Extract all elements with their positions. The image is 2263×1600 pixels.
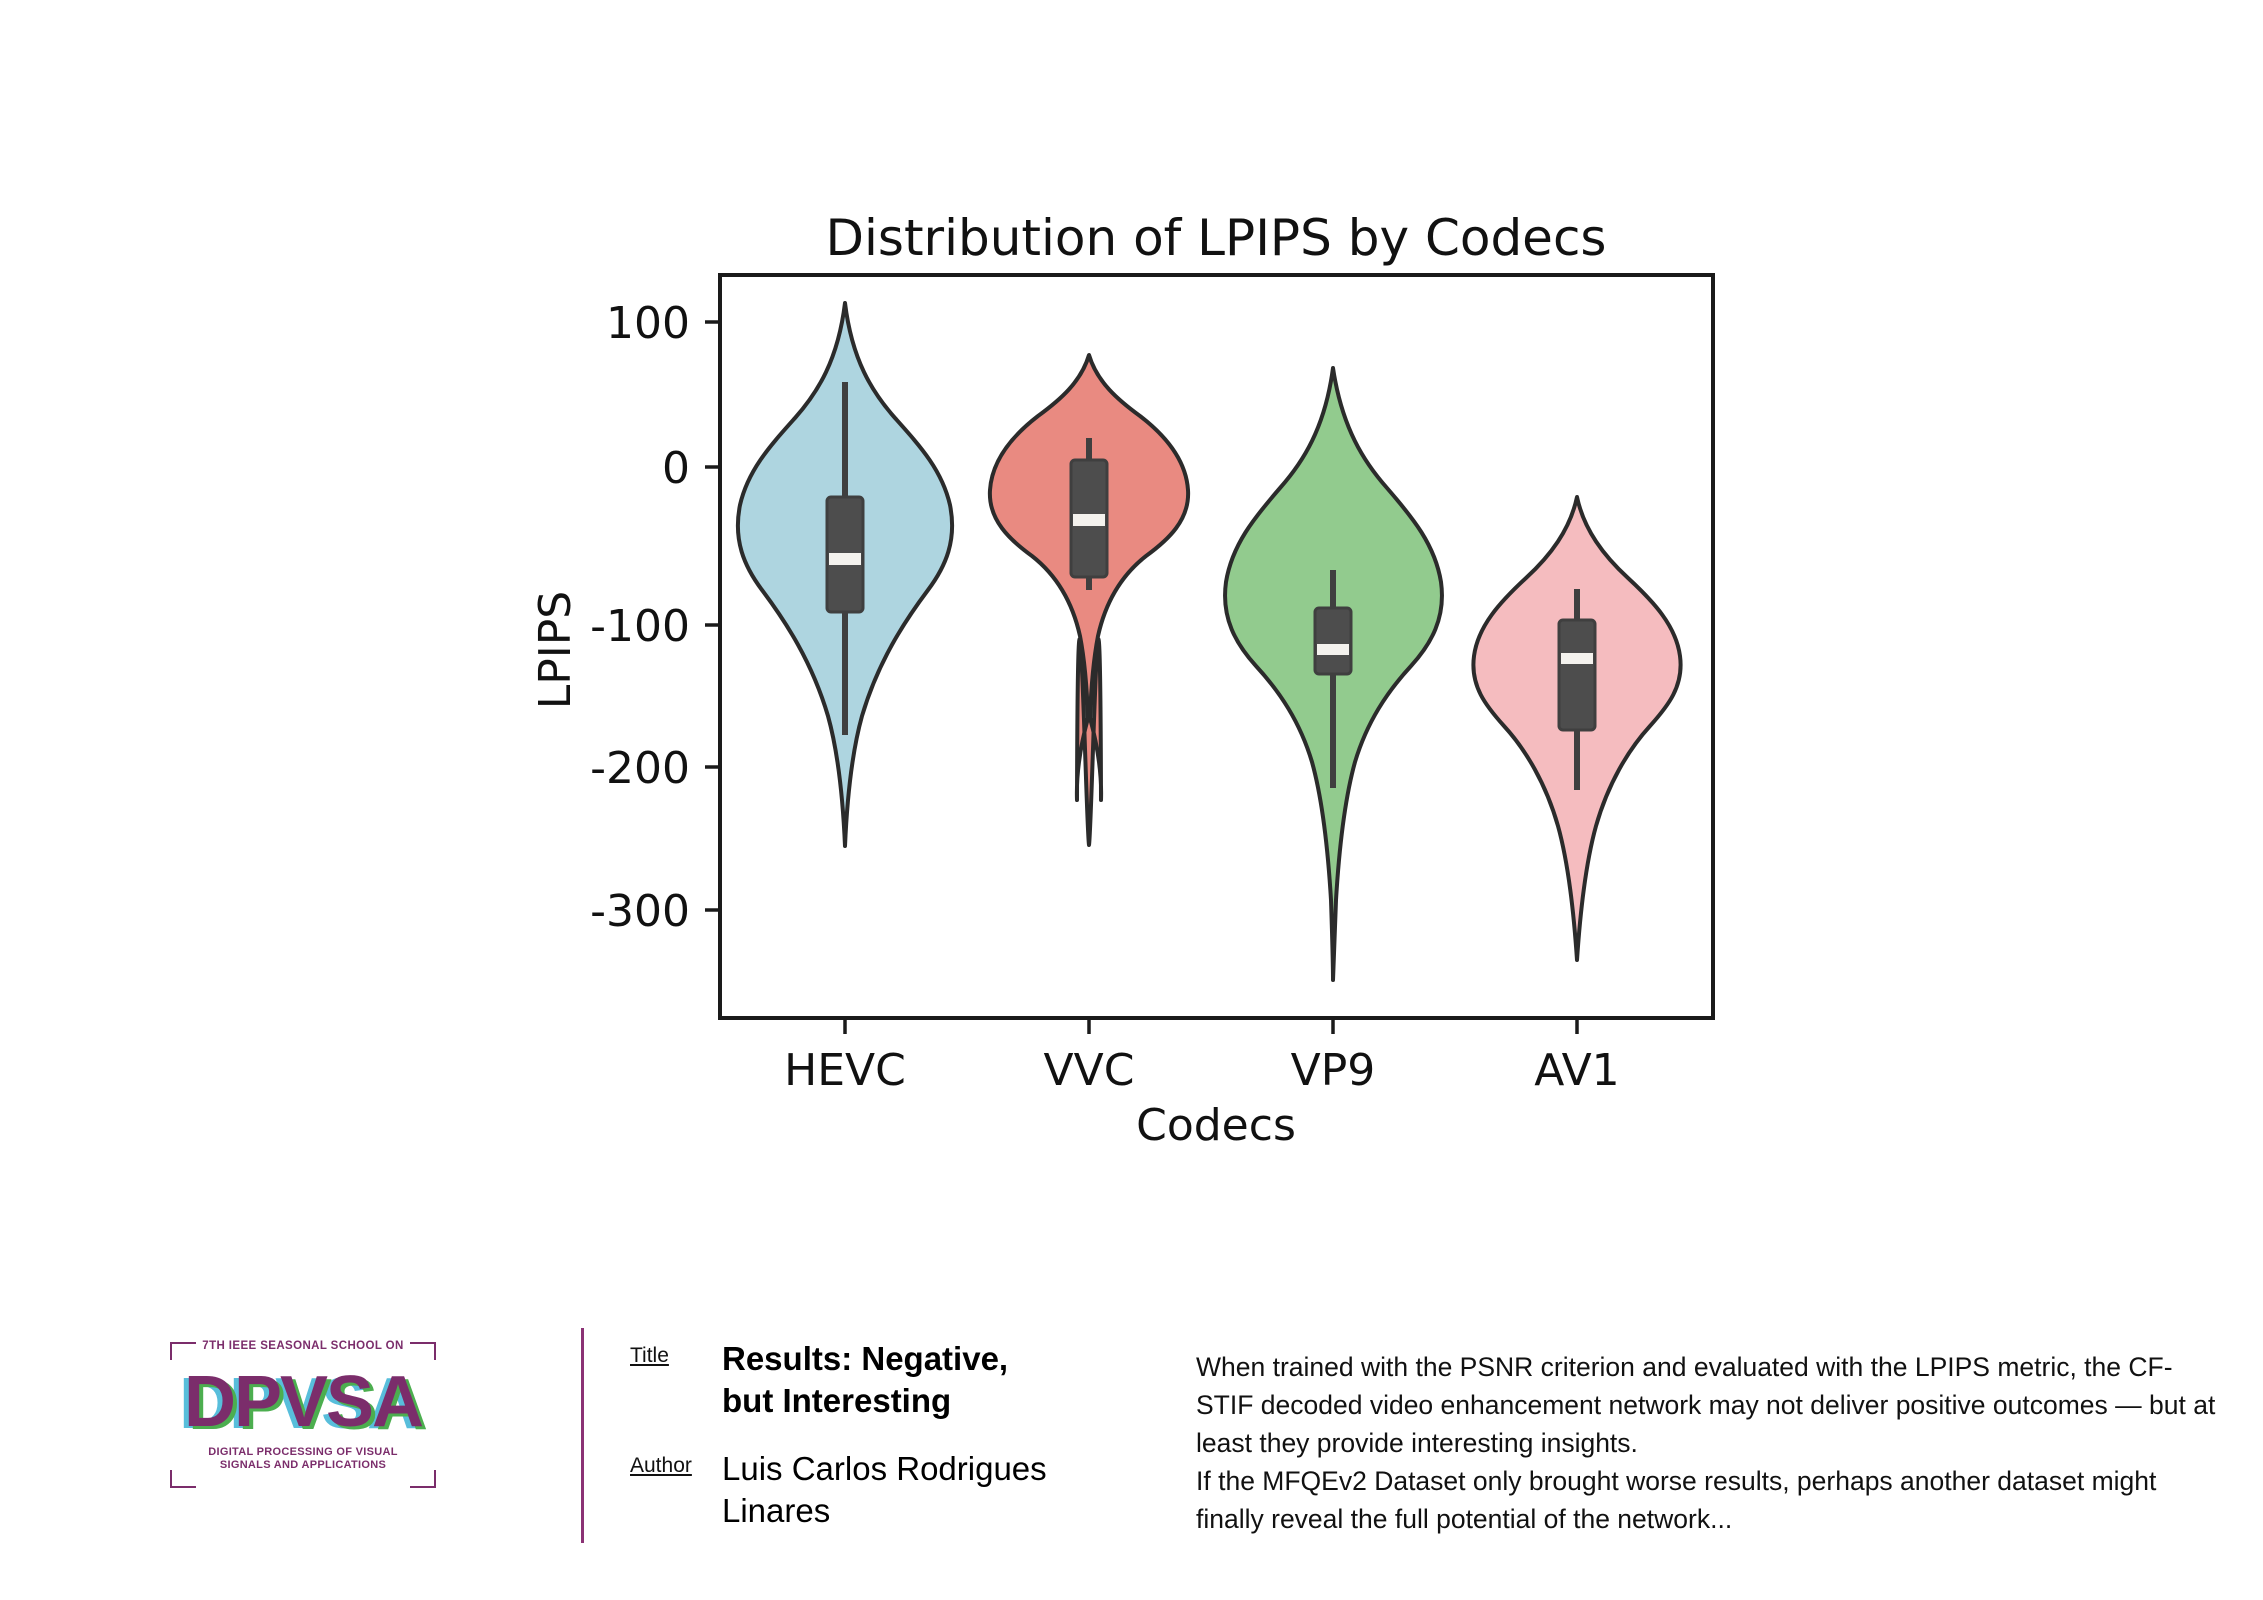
- median-vp9: [1317, 644, 1349, 655]
- body-paragraph-2: If the MFQEv2 Dataset only brought worse…: [1196, 1462, 2216, 1538]
- y-axis: 100 0 -100 -200 -300 LPIPS: [530, 298, 720, 937]
- dpvsa-logo: 7TH IEEE SEASONAL SCHOOL ON DPVSA DPVSA …: [168, 1340, 438, 1490]
- meta-author-key: Author: [630, 1448, 722, 1478]
- x-axis: HEVC VVC VP9 AV1 Codecs: [784, 1018, 1620, 1151]
- logo-top-label: 7TH IEEE SEASONAL SCHOOL ON: [168, 1340, 438, 1352]
- meta-title-key: Title: [630, 1338, 722, 1368]
- box-vp9: [1315, 608, 1351, 674]
- x-axis-label: Codecs: [1136, 1100, 1296, 1151]
- x-tick-label-av1: AV1: [1534, 1045, 1619, 1096]
- y-tick-label: 100: [606, 298, 690, 349]
- chart-canvas: Distribution of LPIPS by Codecs 100 0 -1…: [0, 0, 2263, 1200]
- logo-bottom-label: DIGITAL PROCESSING OF VISUAL SIGNALS AND…: [168, 1446, 438, 1472]
- logo-bracket-bottom-left: [170, 1470, 196, 1488]
- x-tick-label-vp9: VP9: [1291, 1045, 1376, 1096]
- median-vvc: [1073, 514, 1105, 526]
- logo-bottom-label-line1: DIGITAL PROCESSING OF VISUAL: [168, 1446, 438, 1459]
- logo-bracket-bottom-right: [410, 1470, 436, 1488]
- box-av1: [1559, 620, 1595, 730]
- violin-chart-figure: Distribution of LPIPS by Codecs 100 0 -1…: [0, 0, 2263, 1200]
- y-tick-label: -300: [590, 886, 690, 937]
- x-tick-label-vvc: VVC: [1044, 1045, 1135, 1096]
- x-tick-label-hevc: HEVC: [784, 1045, 906, 1096]
- logo-bottom-label-line2: SIGNALS AND APPLICATIONS: [168, 1459, 438, 1472]
- logo-wordmark: DPVSA DPVSA DPVSA: [168, 1366, 438, 1438]
- chart-title: Distribution of LPIPS by Codecs: [826, 209, 1607, 267]
- slide-body-copy: When trained with the PSNR criterion and…: [1196, 1348, 2216, 1538]
- footer-divider: [581, 1328, 584, 1543]
- meta-row-author: Author Luis Carlos Rodrigues Linares: [630, 1448, 1070, 1532]
- meta-title-value: Results: Negative, but Interesting: [722, 1338, 1052, 1422]
- meta-row-title: Title Results: Negative, but Interesting: [630, 1338, 1070, 1422]
- y-tick-label: 0: [662, 443, 690, 494]
- logo-wordmark-purple-layer: DPVSA: [168, 1366, 438, 1438]
- meta-author-value: Luis Carlos Rodrigues Linares: [722, 1448, 1052, 1532]
- y-axis-label: LPIPS: [530, 591, 581, 710]
- median-av1: [1561, 653, 1593, 664]
- slide-meta: Title Results: Negative, but Interesting…: [630, 1338, 1070, 1558]
- median-hevc: [829, 553, 861, 565]
- y-tick-label: -100: [590, 601, 690, 652]
- body-paragraph-1: When trained with the PSNR criterion and…: [1196, 1348, 2216, 1462]
- y-tick-label: -200: [590, 743, 690, 794]
